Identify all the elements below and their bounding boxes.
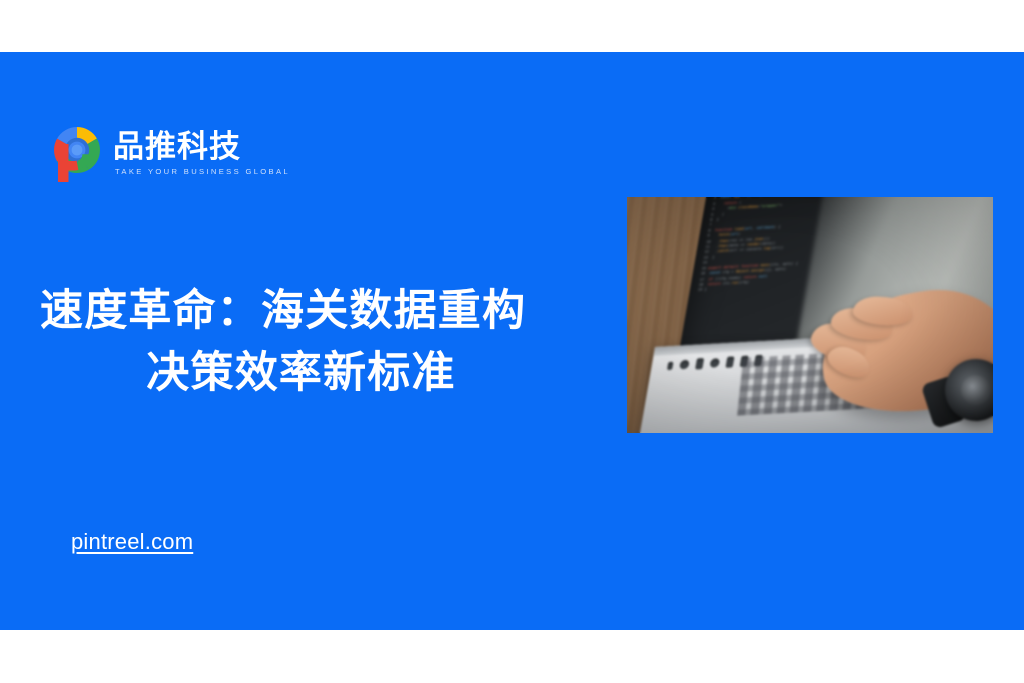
hero-photo: 1 import { render } from 'react-dom' 2 c… [627,197,993,433]
typing-hand [801,275,993,425]
headline-line-1: 速度革命：海关数据重构 [40,280,600,342]
photo-desk-background: 1 import { render } from 'react-dom' 2 c… [627,197,993,433]
headline-line-2: 决策效率新标准 [40,342,600,404]
brand-logo-text: 品推科技 TAKE YOUR BUSINESS GLOBAL [113,128,290,178]
brand-tagline: TAKE YOUR BUSINESS GLOBAL [113,166,290,178]
brand-logo[interactable]: 品推科技 TAKE YOUR BUSINESS GLOBAL [50,124,290,182]
pintreel-circular-mark-icon [50,124,104,182]
website-url-link[interactable]: pintreel.com [71,527,193,557]
brand-name-cn: 品推科技 [113,130,290,164]
slide-canvas: 品推科技 TAKE YOUR BUSINESS GLOBAL 速度革命：海关数据… [0,0,1024,683]
blue-background-panel: 品推科技 TAKE YOUR BUSINESS GLOBAL 速度革命：海关数据… [0,52,1024,630]
headline: 速度革命：海关数据重构 决策效率新标准 [40,280,600,404]
